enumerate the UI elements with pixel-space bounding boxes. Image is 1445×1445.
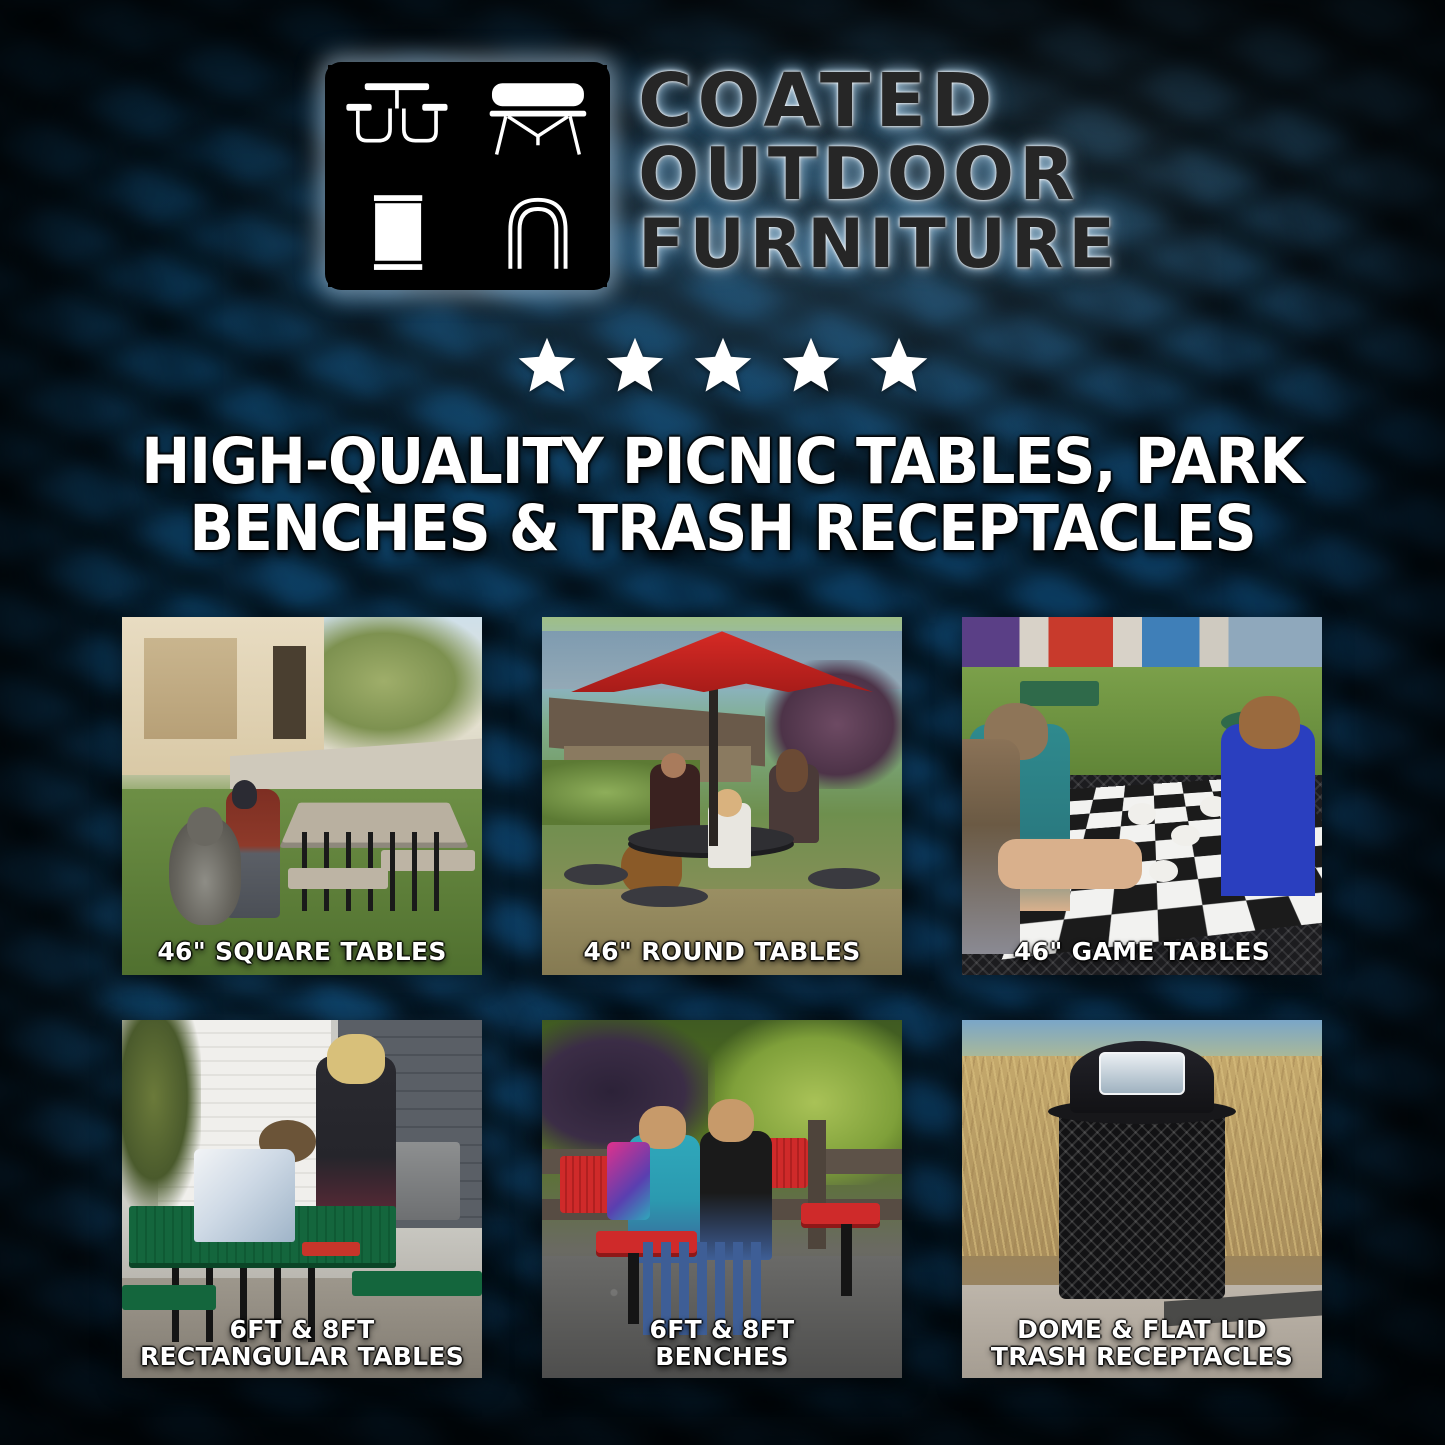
product-tile-game-tables[interactable]: 46" GAME TABLES xyxy=(962,617,1322,975)
caption-line-1: 6FT & 8FT xyxy=(128,1317,476,1344)
star-icon xyxy=(514,333,580,397)
product-tile-trash-receptacles[interactable]: DOME & FLAT LID TRASH RECEPTACLES xyxy=(962,1020,1322,1378)
caption-line-1: 46" SQUARE TABLES xyxy=(128,939,476,966)
caption-line-1: 6FT & 8FT xyxy=(548,1317,896,1344)
caption-line-1: DOME & FLAT LID xyxy=(968,1317,1316,1344)
tile-caption: DOME & FLAT LID TRASH RECEPTACLES xyxy=(962,1317,1322,1370)
picnic-table-icon xyxy=(328,65,466,175)
caption-line-1: 46" GAME TABLES xyxy=(968,939,1316,966)
tile-caption: 46" GAME TABLES xyxy=(962,939,1322,966)
product-tile-round-tables[interactable]: 46" ROUND TABLES xyxy=(542,617,902,975)
caption-line-2: BENCHES xyxy=(548,1344,896,1371)
promo-poster: COATED OUTDOOR FURNITURE HIGH-QUALITY PI… xyxy=(0,0,1445,1445)
logo-line-2: OUTDOOR xyxy=(638,140,1120,210)
star-icon xyxy=(778,333,844,397)
brand-logo: COATED OUTDOOR FURNITURE xyxy=(0,62,1445,290)
star-rating xyxy=(0,333,1445,397)
logo-wordmark: COATED OUTDOOR FURNITURE xyxy=(638,62,1120,278)
photo-game-tables xyxy=(962,617,1322,975)
photo-square-tables xyxy=(122,617,482,975)
star-icon xyxy=(602,333,668,397)
caption-line-2: RECTANGULAR TABLES xyxy=(128,1344,476,1371)
logo-line-3: FURNITURE xyxy=(638,212,1120,278)
caption-line-2: TRASH RECEPTACLES xyxy=(968,1344,1316,1371)
photo-round-tables xyxy=(542,617,902,975)
star-icon xyxy=(690,333,756,397)
logo-icon-grid xyxy=(325,62,610,290)
tile-caption: 46" ROUND TABLES xyxy=(542,939,902,966)
caption-line-1: 46" ROUND TABLES xyxy=(548,939,896,966)
tile-caption: 46" SQUARE TABLES xyxy=(122,939,482,966)
product-tile-square-tables[interactable]: 46" SQUARE TABLES xyxy=(122,617,482,975)
logo-line-1: COATED xyxy=(638,66,1120,138)
bench-table-icon xyxy=(469,65,607,175)
headline-line-1: HIGH-QUALITY PICNIC TABLES, PARK xyxy=(106,428,1338,495)
product-grid: 46" SQUARE TABLES 46" ROUND TABLE xyxy=(122,617,1323,1378)
product-tile-benches[interactable]: 6FT & 8FT BENCHES xyxy=(542,1020,902,1378)
tile-caption: 6FT & 8FT BENCHES xyxy=(542,1317,902,1370)
star-icon xyxy=(866,333,932,397)
trash-receptacle-icon xyxy=(328,178,466,288)
headline-line-2: BENCHES & TRASH RECEPTACLES xyxy=(106,495,1338,562)
product-tile-rectangular-tables[interactable]: 6FT & 8FT RECTANGULAR TABLES xyxy=(122,1020,482,1378)
bike-rack-icon xyxy=(469,178,607,288)
tile-caption: 6FT & 8FT RECTANGULAR TABLES xyxy=(122,1317,482,1370)
headline: HIGH-QUALITY PICNIC TABLES, PARK BENCHES… xyxy=(0,428,1445,563)
